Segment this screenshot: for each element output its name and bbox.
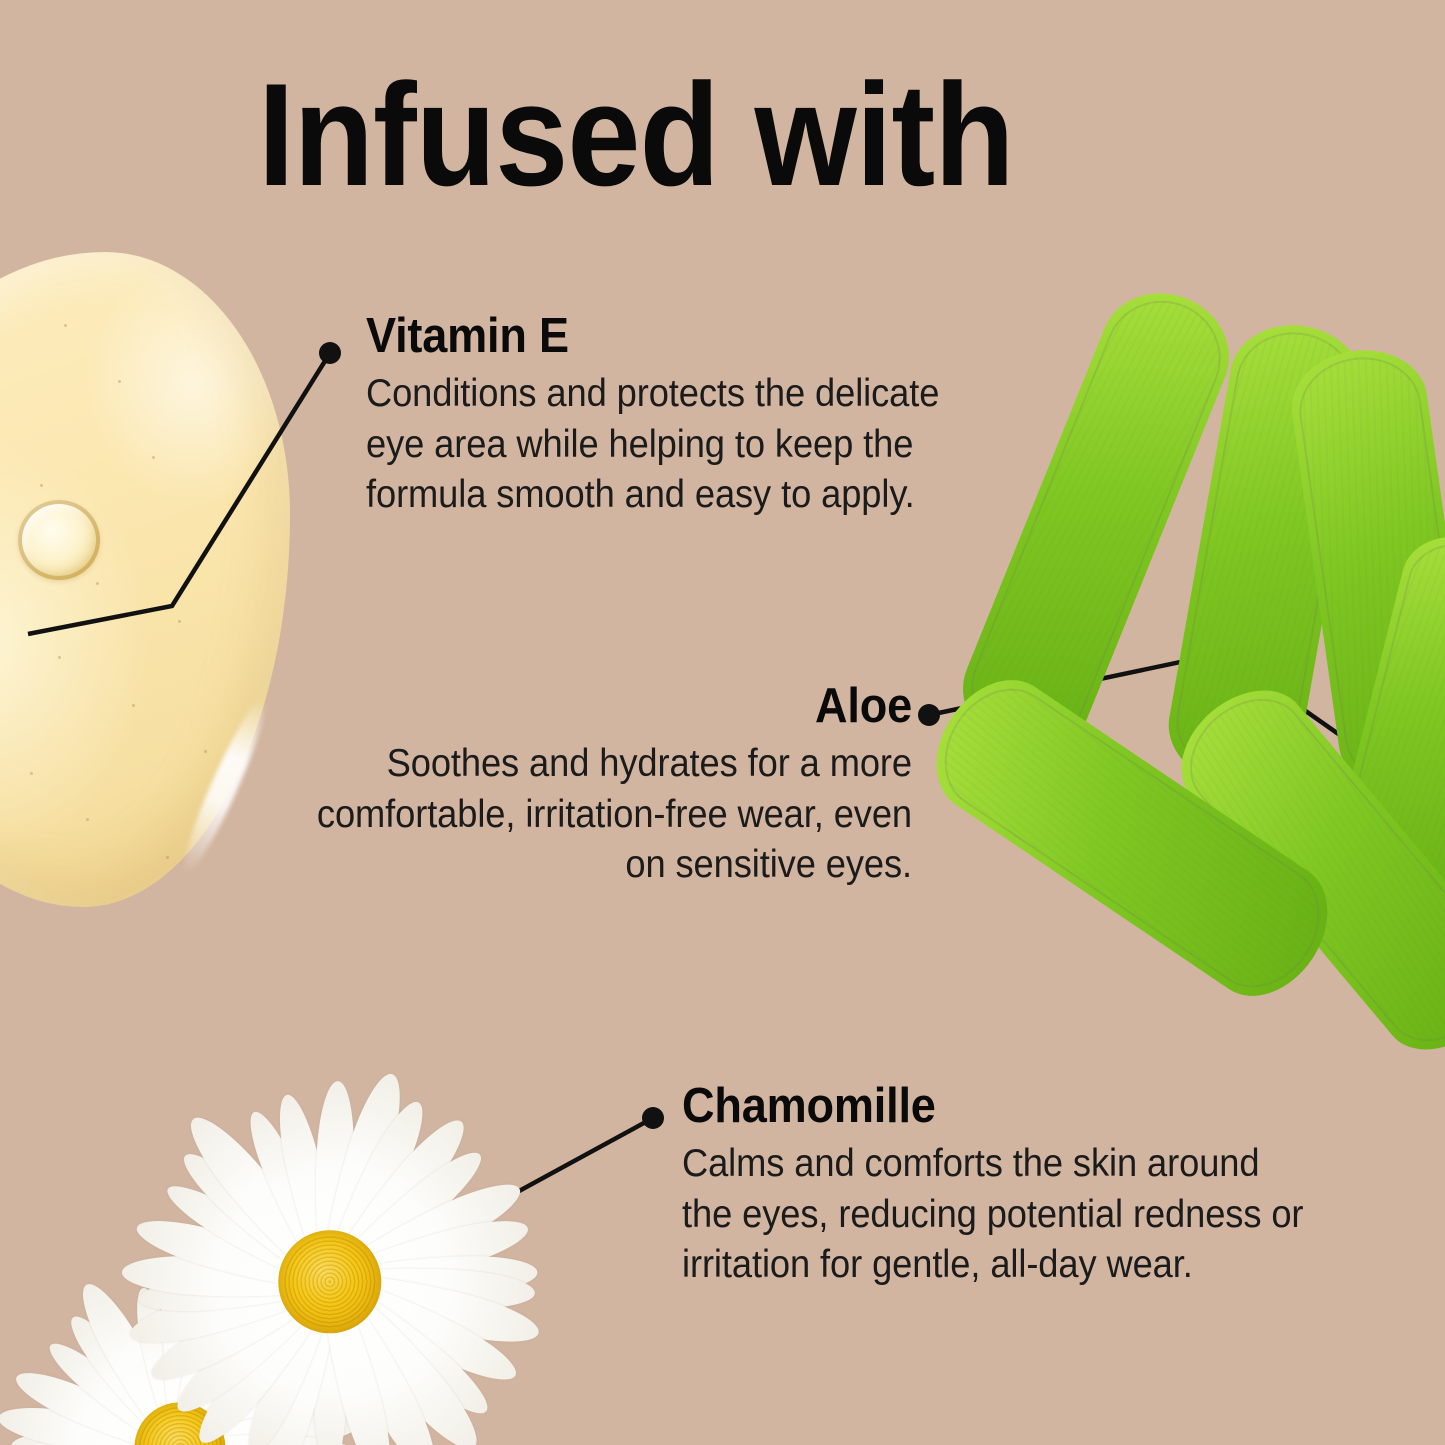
flower-petal [0, 1431, 183, 1445]
flower-petal [325, 1262, 543, 1353]
ingredient-description-aloe: Soothes and hydrates for a more comforta… [280, 739, 912, 891]
flower-petal [325, 1210, 532, 1300]
flower-petal [70, 1275, 196, 1445]
leader-chamomille [347, 1107, 664, 1400]
serum-bubble-droplet [18, 500, 100, 580]
flower-petal [131, 1210, 335, 1300]
flower-core [278, 1230, 381, 1333]
flower-petal [314, 1282, 346, 1445]
flower-petal [271, 1091, 347, 1286]
flower-petal [321, 1171, 528, 1300]
flower-petal [312, 1277, 402, 1445]
flower-petal [248, 1276, 350, 1445]
flower-petal [0, 1400, 183, 1445]
flower-petal [314, 1268, 490, 1445]
leader-aloe [918, 653, 1347, 740]
flower-petal [240, 1105, 345, 1288]
flower-petal [60, 1307, 192, 1445]
aloe-leaf-2 [1168, 323, 1364, 787]
aloe-leaf-5 [1168, 676, 1445, 1063]
flower-petal [129, 1285, 194, 1445]
chamomile-flower-back [0, 1258, 370, 1445]
flower-petal [179, 1431, 361, 1445]
flower-petal [173, 1362, 345, 1445]
leader-dot-chamomille [642, 1107, 664, 1129]
ingredient-description-chamomille: Calms and comforts the skin around the e… [682, 1139, 1305, 1291]
flower-petal [329, 1263, 536, 1312]
flower-petal [170, 1328, 340, 1445]
flower-petal [10, 1362, 186, 1445]
ingredient-block-aloe: Aloe Soothes and hydrates for a more com… [232, 682, 912, 891]
ingredient-name-aloe: Aloe [286, 682, 912, 731]
flower-petal [167, 1436, 316, 1445]
aloe-leaf-4 [922, 668, 1342, 1009]
flower-petal [173, 1432, 354, 1445]
chamomile-flower-front [110, 1062, 550, 1445]
flower-petal [165, 1440, 280, 1445]
flower-petal [162, 1278, 196, 1445]
flower-petal [318, 1268, 498, 1426]
flower-petal [174, 1143, 341, 1295]
flower-petal [169, 1432, 347, 1445]
flower-petal [48, 1437, 193, 1445]
flower-petal [315, 1109, 476, 1294]
aloe-leaf-3 [1293, 350, 1445, 793]
ingredient-name-vitamin-e: Vitamin E [366, 312, 992, 361]
page-title: Infused with [258, 62, 1014, 208]
flower-petal [143, 1266, 338, 1392]
ingredient-name-chamomille: Chamomille [682, 1082, 1298, 1131]
flower-petal [312, 1272, 449, 1445]
flower-petal [177, 1400, 367, 1445]
flower-petal [175, 1431, 361, 1445]
flower-petal [160, 1175, 338, 1296]
flower-core [134, 1402, 225, 1445]
flower-petal [164, 1273, 242, 1445]
flower-petal [163, 1273, 293, 1445]
flower-petal [329, 1253, 539, 1302]
infographic-poster: Infused with Vitamin E Conditions and pr… [0, 0, 1445, 1445]
flower-petal [167, 1268, 342, 1423]
aloe-leaf-6 [1328, 532, 1445, 927]
flower-petal [187, 1270, 345, 1445]
flower-petal [42, 1334, 189, 1445]
flower-petal [177, 1106, 346, 1296]
flower-petal [238, 1275, 345, 1445]
flower-petal [314, 1094, 435, 1290]
flower-petal [319, 1141, 492, 1295]
flower-petal [321, 1264, 525, 1393]
ingredient-block-vitamin-e: Vitamin E Conditions and protects the de… [366, 312, 1046, 521]
flower-petal [312, 1081, 356, 1283]
flower-petal [310, 1068, 412, 1288]
flower-petal [11, 1430, 180, 1445]
flower-petal [125, 1263, 335, 1354]
flower-petal [138, 1265, 332, 1316]
flower-petal [121, 1253, 331, 1302]
leader-dot-aloe [918, 704, 940, 726]
flower-petal [94, 1441, 193, 1445]
ingredient-description-vitamin-e: Conditions and protects the delicate eye… [366, 369, 998, 521]
flower-petal [167, 1303, 308, 1445]
flower-petal [11, 1433, 187, 1445]
leader-vitamin-e [28, 342, 341, 634]
aloe-leaves-art [1020, 290, 1445, 1010]
leader-dot-vitamin-e [319, 342, 341, 364]
ingredient-block-chamomille: Chamomille Calms and comforts the skin a… [682, 1082, 1352, 1291]
flower-petal [30, 1435, 190, 1445]
